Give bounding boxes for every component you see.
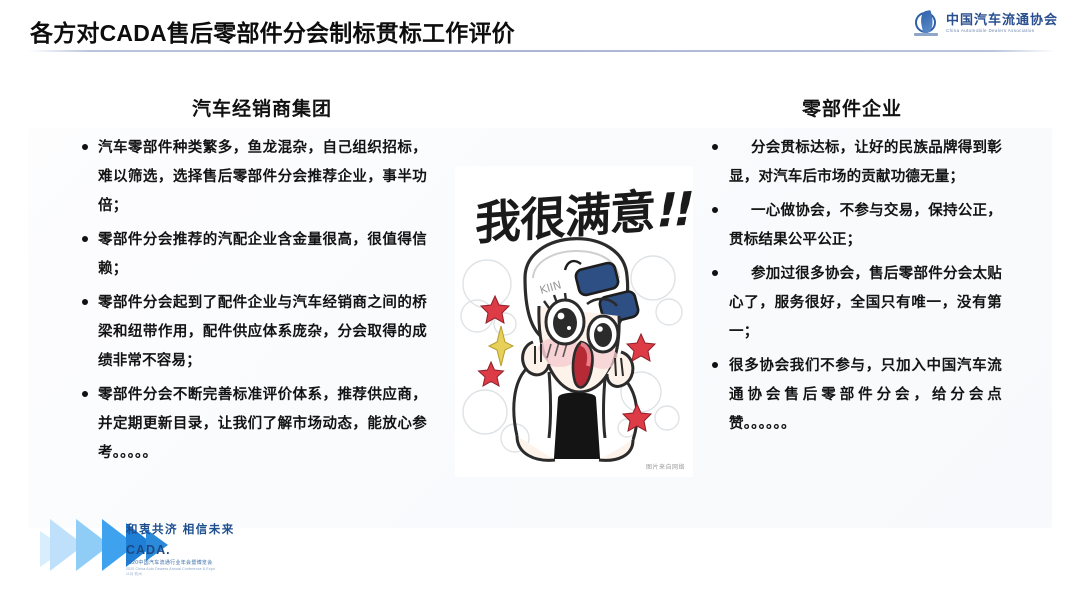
bullet-dot-icon — [712, 270, 718, 276]
header-divider — [28, 50, 1055, 52]
list-item-text: 分会贯标达标，让好的民族品牌得到彰显，对汽车后市场的贡献功德无量； — [729, 134, 1002, 192]
list-item: 零部件分会不断完善标准评价体系，推荐供应商，并定期更新目录，让我们了解市场动态，… — [82, 381, 427, 468]
slide-canvas: 各方对CADA售后零部件分会制标贯标工作评价 中国汽车流通协会 China Au… — [0, 0, 1080, 589]
left-column-heading: 汽车经销商集团 — [192, 94, 332, 121]
association-emblem-icon — [914, 10, 940, 36]
left-column-bullet-list: 汽车零部件种类繁多，鱼龙混杂，自己组织招标，难以筛选，选择售后零部件分会推荐企业… — [82, 134, 427, 473]
cada-logo-text: CADA. — [126, 544, 235, 557]
footer-event-name-en: 2020 China Auto Dealers Annual Conferenc… — [126, 568, 235, 571]
list-item-text: 零部件分会起到了配件企业与汽车经销商之间的桥梁和纽带作用，配件供应体系庞杂，分会… — [98, 289, 427, 376]
list-item: 零部件分会起到了配件企业与汽车经销商之间的桥梁和纽带作用，配件供应体系庞杂，分会… — [82, 289, 427, 376]
bullet-dot-icon — [82, 144, 88, 150]
bullet-dot-icon — [712, 144, 718, 150]
bullet-dot-icon — [82, 236, 88, 242]
footer-branding: 和衷共济 相信未来 CADA. 2020中国汽车流通行业年会暨博览会 2020 … — [34, 503, 324, 581]
bullet-dot-icon — [82, 299, 88, 305]
association-logo: 中国汽车流通协会 China Automobile Dealers Associ… — [914, 10, 1058, 36]
bullet-dot-icon — [712, 362, 718, 368]
list-item: 零部件分会推荐的汽配企业含金量很高，很值得信赖； — [82, 226, 427, 284]
list-item: 很多协会我们不参与，只加入中国汽车流通协会售后零部件分会，给分会点赞。。。。。。 — [712, 352, 1002, 439]
list-item: 参加过很多协会，售后零部件分会太贴心了，服务很好，全国只有唯一，没有第一； — [712, 260, 1002, 347]
bullet-dot-icon — [712, 207, 718, 213]
footer-brand-text: 和衷共济 相信未来 CADA. 2020中国汽车流通行业年会暨博览会 2020 … — [126, 525, 235, 577]
sticker-signature: 图片来自网络 — [646, 462, 685, 471]
list-item-text: 很多协会我们不参与，只加入中国汽车流通协会售后零部件分会，给分会点赞。。。。。。 — [729, 352, 1002, 439]
footer-event-date: 11月 杭州 — [126, 573, 235, 576]
cartoon-character-illustration: KIIN — [455, 166, 693, 477]
list-item-text: 零部件分会不断完善标准评价体系，推荐供应商，并定期更新目录，让我们了解市场动态，… — [98, 381, 427, 468]
list-item: 分会贯标达标，让好的民族品牌得到彰显，对汽车后市场的贡献功德无量； — [712, 134, 1002, 192]
footer-slogan: 和衷共济 相信未来 — [126, 525, 235, 537]
page-title: 各方对CADA售后零部件分会制标贯标工作评价 — [30, 14, 515, 48]
list-item: 汽车零部件种类繁多，鱼龙混杂，自己组织招标，难以筛选，选择售后零部件分会推荐企业… — [82, 134, 427, 221]
bullet-dot-icon — [82, 391, 88, 397]
slide-header: 各方对CADA售后零部件分会制标贯标工作评价 中国汽车流通协会 China Au… — [0, 0, 1080, 55]
satisfaction-sticker-image: 我很满意!! KIIN — [455, 166, 693, 477]
list-item-text: 参加过很多协会，售后零部件分会太贴心了，服务很好，全国只有唯一，没有第一； — [729, 260, 1002, 347]
association-name-en: China Automobile Dealers Association — [946, 29, 1058, 34]
association-name-cn: 中国汽车流通协会 — [946, 13, 1058, 26]
list-item-text: 一心做协会，不参与交易，保持公正，贯标结果公平公正； — [729, 197, 1002, 255]
right-column-heading: 零部件企业 — [802, 94, 902, 121]
list-item-text: 汽车零部件种类繁多，鱼龙混杂，自己组织招标，难以筛选，选择售后零部件分会推荐企业… — [98, 134, 427, 221]
list-item-text: 零部件分会推荐的汽配企业含金量很高，很值得信赖； — [98, 226, 427, 284]
association-logo-text: 中国汽车流通协会 China Automobile Dealers Associ… — [946, 13, 1058, 34]
footer-event-name-cn: 2020中国汽车流通行业年会暨博览会 — [126, 561, 235, 566]
right-column-bullet-list: 分会贯标达标，让好的民族品牌得到彰显，对汽车后市场的贡献功德无量； 一心做协会，… — [712, 134, 1002, 444]
list-item: 一心做协会，不参与交易，保持公正，贯标结果公平公正； — [712, 197, 1002, 255]
